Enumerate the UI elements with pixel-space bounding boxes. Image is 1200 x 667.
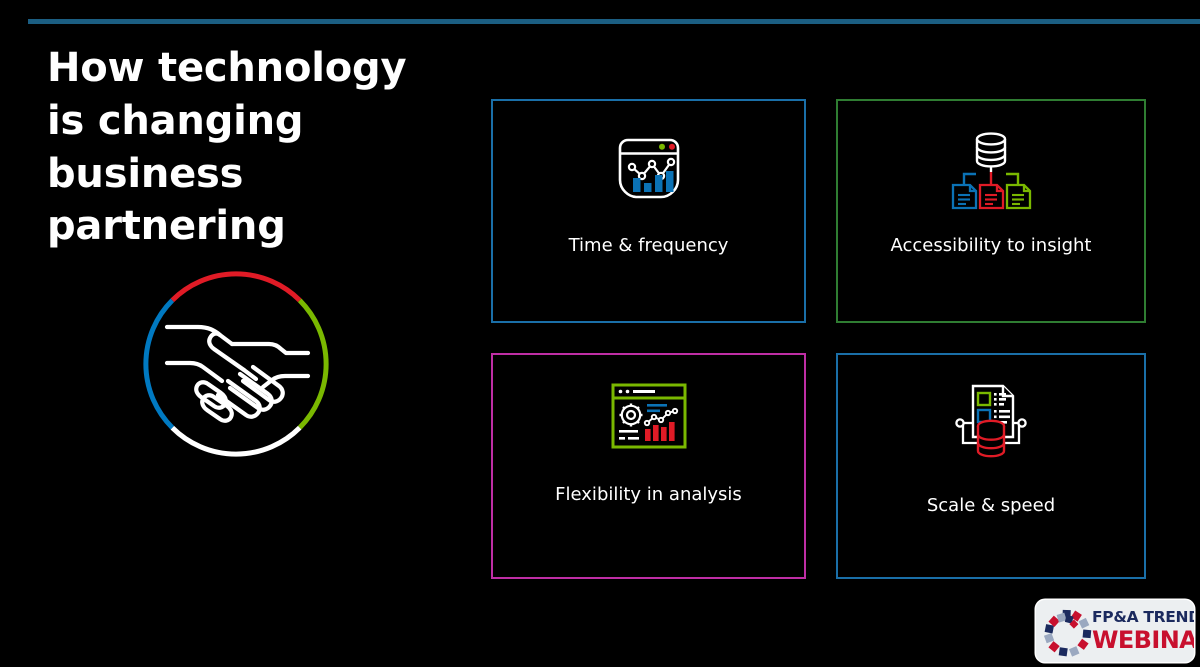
gear-icon [619, 404, 642, 427]
logo-line-trends: FP&A TRENDS [1092, 610, 1194, 626]
slide-canvas: How technology is changing business part… [0, 0, 1200, 667]
title-line-4: partnering [47, 200, 467, 253]
analytics-window-icon [611, 127, 687, 211]
logo-line-webinar: WEBINAR [1092, 628, 1194, 652]
arc-top-red [172, 274, 299, 300]
document-green [1007, 185, 1030, 208]
card-accessibility-insight[interactable]: Accessibility to insight [836, 99, 1146, 323]
page-title: How technology is changing business part… [47, 42, 467, 253]
handshake-glyph [167, 327, 308, 421]
card-label-scale-speed: Scale & speed [838, 495, 1144, 516]
arc-bottom-white [172, 428, 299, 454]
title-line-2: is changing [47, 95, 467, 148]
handshake-circle-emblem [122, 250, 350, 478]
database-cylinder-red [978, 421, 1004, 456]
card-time-frequency[interactable]: Time & frequency [491, 99, 806, 323]
document-red [980, 185, 1003, 208]
card-scale-speed[interactable]: Scale & speed [836, 353, 1146, 579]
card-flexibility-analysis[interactable]: Flexibility in analysis [491, 353, 806, 579]
arc-right-green [300, 300, 326, 427]
database-to-documents-icon [948, 125, 1034, 215]
logo-wordmark: FP&A TRENDS WEBINAR [1092, 610, 1194, 652]
fpa-spiral-mark [1038, 603, 1094, 659]
title-line-1: How technology [47, 42, 467, 95]
document-database-network-icon [951, 377, 1031, 469]
card-label-flexibility-analysis: Flexibility in analysis [493, 484, 804, 505]
feature-card-grid: Time & frequency [491, 99, 1146, 579]
dashboard-gear-chart-icon [610, 377, 688, 457]
title-line-3: business [47, 148, 467, 201]
database-cylinder [977, 134, 1005, 167]
top-accent-rule [28, 19, 1200, 24]
dot-green [659, 144, 665, 150]
card-label-time-frequency: Time & frequency [493, 235, 804, 256]
fpa-trends-webinar-logo[interactable]: FP&A TRENDS WEBINAR [1036, 600, 1194, 662]
card-label-accessibility-insight: Accessibility to insight [838, 235, 1144, 256]
document-blue [953, 185, 976, 208]
dot-red [669, 144, 675, 150]
